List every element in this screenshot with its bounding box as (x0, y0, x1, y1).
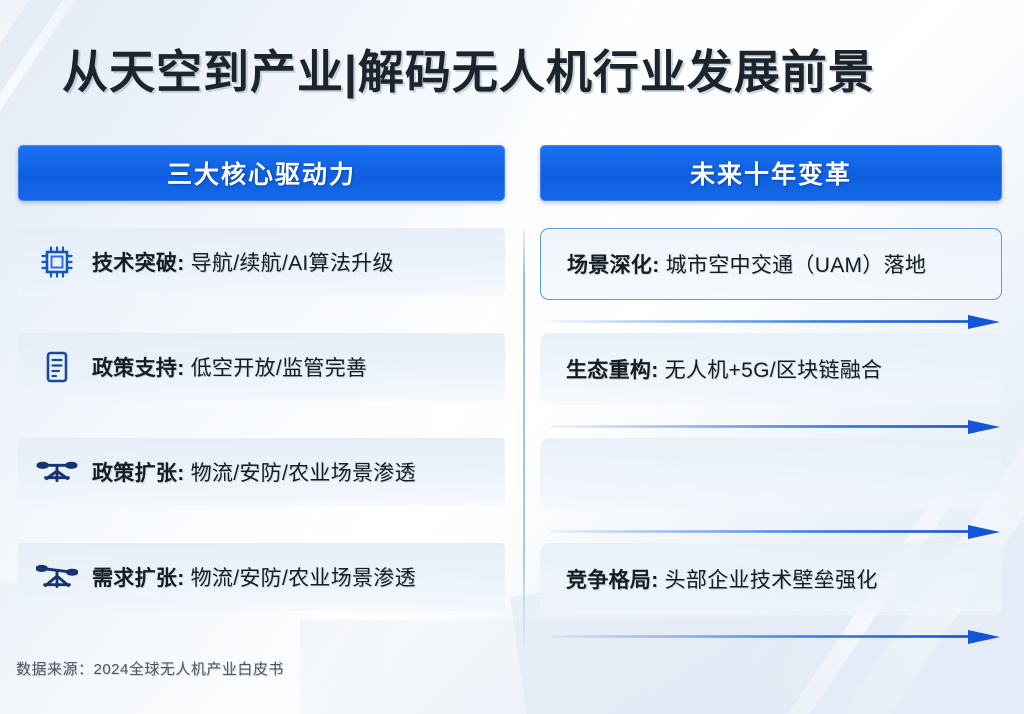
drone-icon (36, 556, 78, 598)
drone-icon (36, 451, 78, 493)
list-item[interactable]: 政策扩张: 物流/安防/农业场景渗透 (18, 438, 505, 506)
list-item-text: 需求扩张: 物流/安防/农业场景渗透 (92, 562, 416, 592)
list-item-label: 需求扩张: (92, 567, 185, 590)
list-item-label: 竞争格局: (566, 569, 659, 592)
left-column-header: 三大核心驱动力 (18, 145, 505, 201)
page-title: 从天空到产业|解码无人机行业发展前景 (62, 36, 875, 102)
slide-canvas: 从天空到产业|解码无人机行业发展前景 三大核心驱动力 未来十年变革 (0, 0, 1024, 714)
list-item-detail: 物流/安防/农业场景渗透 (185, 567, 416, 590)
list-item-text: 政策支持: 低空开放/监管完善 (92, 352, 367, 382)
list-item-detail: 导航/续航/AI算法升级 (185, 252, 394, 275)
flow-arrow-icon (550, 524, 1000, 540)
list-item[interactable]: 需求扩张: 物流/安防/农业场景渗透 (18, 543, 505, 611)
right-column-header-bar: 未来十年变革 (540, 145, 1002, 201)
list-item[interactable]: 技术突破: 导航/续航/AI算法升级 (18, 228, 505, 296)
list-item-text: 政策扩张: 物流/安防/农业场景渗透 (92, 457, 416, 487)
timeline-item: 场景深化: 城市空中交通（UAM）落地 (540, 228, 1002, 333)
flow-arrow-icon (550, 629, 1000, 645)
list-item-detail: 物流/安防/农业场景渗透 (185, 462, 416, 485)
list-item-label: 技术突破: (92, 252, 185, 275)
flow-arrow-icon (550, 314, 1000, 330)
left-column-header-label: 三大核心驱动力 (167, 155, 356, 191)
timeline-item: 生态重构: 无人机+5G/区块链融合 (540, 333, 1002, 438)
source-note: 数据来源：2024全球无人机产业白皮书 (16, 658, 284, 679)
right-column-header-label: 未来十年变革 (690, 155, 852, 191)
list-item-text: 竞争格局: 头部企业技术壁垒强化 (566, 564, 878, 594)
list-item[interactable]: 生态重构: 无人机+5G/区块链融合 (540, 333, 1002, 405)
list-item-text: 生态重构: 无人机+5G/区块链融合 (566, 354, 882, 384)
list-item[interactable]: 场景深化: 城市空中交通（UAM）落地 (540, 228, 1002, 300)
list-item[interactable] (540, 438, 1002, 510)
list-item-detail: 无人机+5G/区块链融合 (659, 359, 883, 382)
list-item-label: 政策支持: (92, 357, 185, 380)
timeline-item: 竞争格局: 头部企业技术壁垒强化 (540, 543, 1002, 648)
document-icon (36, 346, 78, 388)
left-column-list: 技术突破: 导航/续航/AI算法升级 政策支持: 低空开放/监管完善 (18, 228, 505, 611)
left-column-header-bar: 三大核心驱动力 (18, 145, 505, 201)
timeline-item (540, 438, 1002, 543)
right-column-list: 场景深化: 城市空中交通（UAM）落地 生态重构: 无人机+5G/区块链融合 (540, 228, 1002, 648)
list-item-detail: 低空开放/监管完善 (185, 357, 368, 380)
list-item-text: 场景深化: 城市空中交通（UAM）落地 (567, 249, 926, 279)
flow-arrow-icon (550, 419, 1000, 435)
cpu-chip-icon (36, 241, 78, 283)
column-divider (523, 228, 525, 646)
list-item-label: 场景深化: (567, 254, 660, 277)
list-item-text: 技术突破: 导航/续航/AI算法升级 (92, 247, 394, 277)
list-item-detail: 城市空中交通（UAM）落地 (660, 254, 927, 277)
list-item[interactable]: 竞争格局: 头部企业技术壁垒强化 (540, 543, 1002, 615)
list-item-label: 政策扩张: (92, 462, 185, 485)
right-column-header: 未来十年变革 (540, 145, 1002, 201)
list-item-detail: 头部企业技术壁垒强化 (659, 569, 878, 592)
list-item[interactable]: 政策支持: 低空开放/监管完善 (18, 333, 505, 401)
list-item-label: 生态重构: (566, 359, 659, 382)
